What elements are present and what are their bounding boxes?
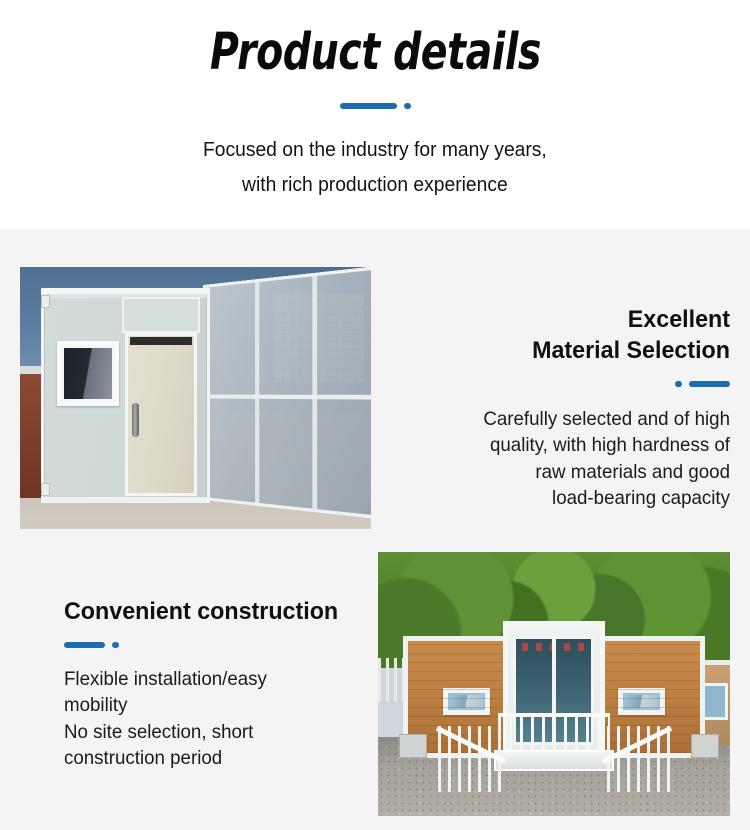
page-title: Product details xyxy=(209,24,540,81)
ac-unit-right xyxy=(691,734,719,758)
feature-heading-line-1: Excellent xyxy=(628,306,730,333)
deck-platform xyxy=(494,750,614,771)
cabin-side-panel xyxy=(203,267,371,520)
feature-body-line-2: quality, with high hardness of xyxy=(413,432,730,459)
cabin-door xyxy=(125,333,196,496)
content-area: Excellent Material Selection Carefully s… xyxy=(0,229,750,830)
feature-divider xyxy=(400,381,730,387)
feature-body-line-1: Flexible installation/easy xyxy=(64,666,381,693)
door-top-strip xyxy=(130,337,193,345)
divider-bar-icon xyxy=(340,103,397,109)
feature-body-line-4: load-bearing capacity xyxy=(413,485,730,512)
feature-block-material-selection: Excellent Material Selection Carefully s… xyxy=(400,305,730,512)
feature-heading-line-1: Convenient construction xyxy=(64,598,338,625)
subtitle-line-1: Focused on the industry for many years, xyxy=(203,132,547,167)
feature-heading: Convenient construction xyxy=(64,597,378,628)
cabin-base-rail xyxy=(42,497,208,502)
feature-body: Flexible installation/easy mobility No s… xyxy=(64,666,381,772)
cabin-transom-panel xyxy=(122,297,200,333)
cabin-window-left xyxy=(443,688,490,715)
door-header-band xyxy=(522,643,585,651)
feature-divider xyxy=(64,642,394,648)
feature-body: Carefully selected and of high quality, … xyxy=(413,406,730,512)
corner-fitting xyxy=(41,483,50,496)
photo-two-scene xyxy=(378,552,730,816)
corner-fitting xyxy=(41,295,50,308)
divider-bar-icon xyxy=(689,381,730,387)
deck-railing xyxy=(498,713,611,750)
subtitle-line-2: with rich production experience xyxy=(203,167,547,202)
photo-wooden-expandable-cabin xyxy=(378,552,730,816)
feature-body-line-4: construction period xyxy=(64,745,381,772)
door-handle-icon xyxy=(132,403,139,437)
cabin-window xyxy=(57,341,119,406)
feature-body-line-3: raw materials and good xyxy=(413,459,730,486)
ac-unit-left xyxy=(399,734,427,758)
cabin-window-right xyxy=(618,688,665,715)
divider-bar-icon xyxy=(64,642,105,648)
cabin-front-wall xyxy=(41,288,209,503)
feature-heading-line-2: Material Selection xyxy=(532,337,730,364)
divider-dot-icon xyxy=(675,381,682,387)
divider-dot-icon xyxy=(112,642,119,648)
feature-body-line-2: mobility xyxy=(64,692,381,719)
divider-dot-icon xyxy=(404,103,411,109)
photo-white-container-cabin xyxy=(20,267,371,529)
page-header: Product details Focused on the industry … xyxy=(0,0,750,229)
stairs-right xyxy=(607,726,670,792)
stairs-left xyxy=(438,726,501,792)
feature-body-line-3: No site selection, short xyxy=(64,719,381,746)
cabin-roof-edge xyxy=(42,289,208,294)
feature-block-convenient-construction: Convenient construction Flexible install… xyxy=(64,597,394,772)
feature-body-line-1: Carefully selected and of high xyxy=(413,406,730,433)
photo-one-scene xyxy=(20,267,371,529)
feature-heading: Excellent Material Selection xyxy=(417,305,731,367)
page-subtitle: Focused on the industry for many years, … xyxy=(203,132,547,203)
header-divider xyxy=(340,103,411,109)
